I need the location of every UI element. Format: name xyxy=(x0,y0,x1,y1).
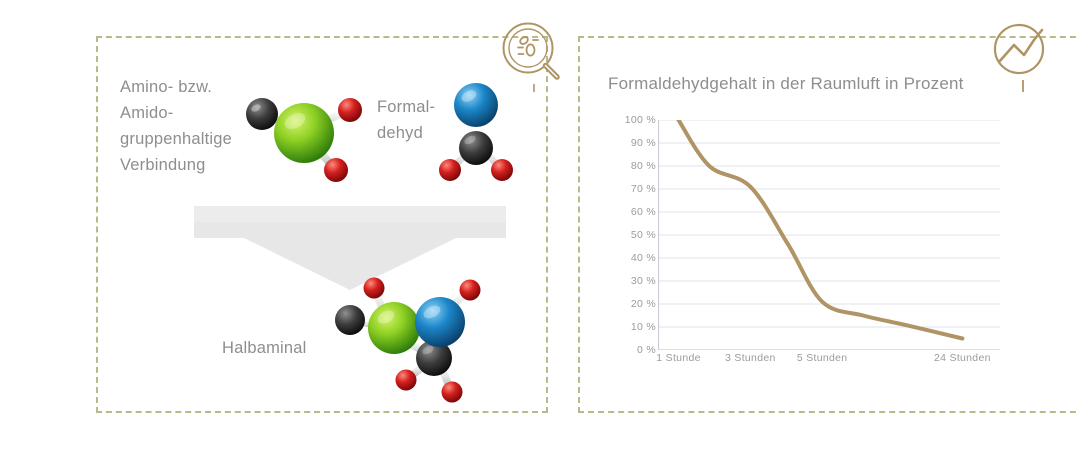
y-axis-tick: 100 % xyxy=(608,114,656,126)
y-axis-tick: 20 % xyxy=(608,298,656,310)
trend-chart-circle-icon xyxy=(986,18,1060,92)
infographic-stage: Amino- bzw. Amido- gruppenhaltige Verbin… xyxy=(0,0,1080,462)
y-axis-tick: 60 % xyxy=(608,206,656,218)
x-axis-labels: 1 Stunde3 Stunden5 Stunden24 Stunden xyxy=(658,352,1000,372)
y-axis-tick: 90 % xyxy=(608,137,656,149)
chart-plot xyxy=(658,120,1000,350)
molecule-amino-compound xyxy=(236,78,372,190)
x-axis-tick: 24 Stunden xyxy=(934,352,991,364)
y-axis-labels: 0 %10 %20 %30 %40 %50 %60 %70 %80 %90 %1… xyxy=(600,120,656,345)
y-axis-tick: 30 % xyxy=(608,275,656,287)
product-label: Halbaminal xyxy=(222,337,307,359)
molecule-formaldehyde xyxy=(432,70,520,192)
y-axis-tick: 50 % xyxy=(608,229,656,241)
molecule-hemiaminal xyxy=(328,272,506,408)
chart-svg xyxy=(658,120,1000,350)
y-axis-tick: 80 % xyxy=(608,160,656,172)
x-axis-tick: 3 Stunden xyxy=(725,352,776,364)
y-axis-tick: 40 % xyxy=(608,252,656,264)
chart-title: Formaldehydgehalt in der Raumluft in Pro… xyxy=(608,74,964,94)
y-axis-tick: 70 % xyxy=(608,183,656,195)
y-axis-tick: 0 % xyxy=(608,344,656,356)
x-axis-tick: 5 Stunden xyxy=(797,352,848,364)
x-axis-tick: 1 Stunde xyxy=(656,352,700,364)
chart-line-series xyxy=(679,120,963,339)
y-axis-tick: 10 % xyxy=(608,321,656,333)
chart-area: 0 %10 %20 %30 %40 %50 %60 %70 %80 %90 %1… xyxy=(600,120,1000,375)
